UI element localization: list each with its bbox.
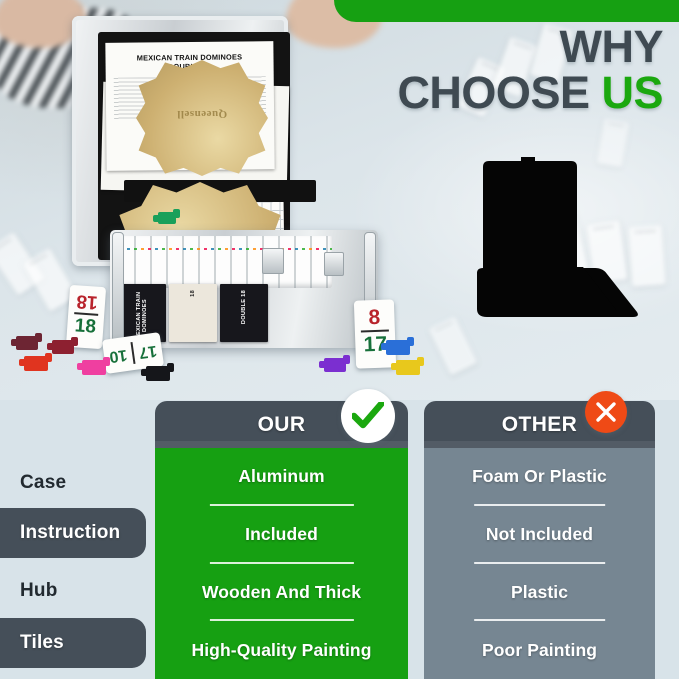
instruction-card-title: MEXICAN TRAIN DOMINOES	[137, 52, 243, 62]
other-cell-instruction: Not Included	[424, 506, 655, 564]
case-latch-left	[262, 248, 284, 274]
hub-brand-top: Queensell	[136, 108, 268, 120]
green-top-banner	[334, 0, 679, 22]
case-corner-left	[112, 232, 124, 342]
domino-8-17-top: 8	[354, 306, 395, 328]
other-cell-case: Foam Or Plastic	[424, 448, 655, 506]
aluminum-case-photo: MEXICAN TRAIN DOMINOES DOUBLE 18 Queense…	[58, 12, 388, 372]
box-label-2: 18	[190, 290, 196, 297]
headline-line-2: CHOOSE US	[397, 72, 663, 114]
check-icon	[341, 389, 395, 443]
train-marker-yellow	[396, 360, 420, 375]
packaging-boxes: MEXICAN TRAIN DOMINOES 18 DOUBLE 18	[118, 284, 268, 342]
headline-choose: CHOOSE	[397, 67, 589, 118]
box-dark-2: DOUBLE 18	[220, 284, 268, 342]
category-label-tiles: Tiles	[0, 618, 146, 668]
x-icon	[585, 391, 627, 433]
page-title: WHY CHOOSE US	[397, 26, 663, 114]
domino-tile-row	[120, 236, 332, 288]
domino-18-18-bottom: 18	[67, 316, 104, 337]
column-other: OTHER Foam Or Plastic Not Included Plast…	[424, 401, 655, 679]
other-cell-hub: Plastic	[424, 564, 655, 622]
our-cell-hub: Wooden And Thick	[155, 564, 408, 622]
category-label-instruction: Instruction	[0, 508, 146, 558]
train-marker-red	[24, 356, 48, 371]
our-cell-case: Aluminum	[155, 448, 408, 506]
case-tray: MEXICAN TRAIN DOMINOES 18 DOUBLE 18	[110, 230, 378, 348]
headline-line-1: WHY	[397, 26, 663, 68]
train-marker-blue	[386, 340, 410, 355]
train-marker-green	[158, 212, 176, 224]
train-marker-black	[146, 366, 170, 381]
case-lid-lining: MEXICAN TRAIN DOMINOES DOUBLE 18 Queense…	[98, 32, 290, 260]
case-latch-right	[324, 252, 344, 276]
train-marker-pink	[82, 360, 106, 375]
box-cream: 18	[169, 284, 217, 342]
domino-18-18-top: 18	[68, 291, 105, 312]
domino-10-17-bottom: 17	[133, 341, 163, 361]
our-cell-instruction: Included	[155, 506, 408, 564]
train-marker-maroon	[16, 336, 38, 350]
category-label-hub: Hub	[0, 566, 148, 616]
other-cell-tiles: Poor Painting	[424, 621, 655, 679]
train-marker-purple	[324, 358, 346, 372]
hero-product-photo: MEXICAN TRAIN DOMINOES DOUBLE 18 Queense…	[0, 0, 679, 400]
competitor-case-silhouette	[455, 145, 650, 330]
our-cell-tiles: High-Quality Painting	[155, 621, 408, 679]
category-label-list: Case Instruction Hub Tiles	[0, 455, 148, 679]
case-lid: MEXICAN TRAIN DOMINOES DOUBLE 18 Queense…	[72, 16, 288, 266]
column-our-body: Aluminum Included Wooden And Thick High-…	[155, 448, 408, 679]
category-label-case: Case	[0, 458, 148, 508]
column-other-body: Foam Or Plastic Not Included Plastic Poo…	[424, 448, 655, 679]
column-other-header-label: OTHER	[502, 413, 578, 437]
train-marker-darkred	[52, 340, 74, 354]
domino-tile-8-17: 8 17	[354, 299, 396, 368]
box-label-3: DOUBLE 18	[241, 290, 247, 324]
column-our-header-label: OUR	[258, 413, 306, 437]
headline-us: US	[601, 67, 663, 118]
